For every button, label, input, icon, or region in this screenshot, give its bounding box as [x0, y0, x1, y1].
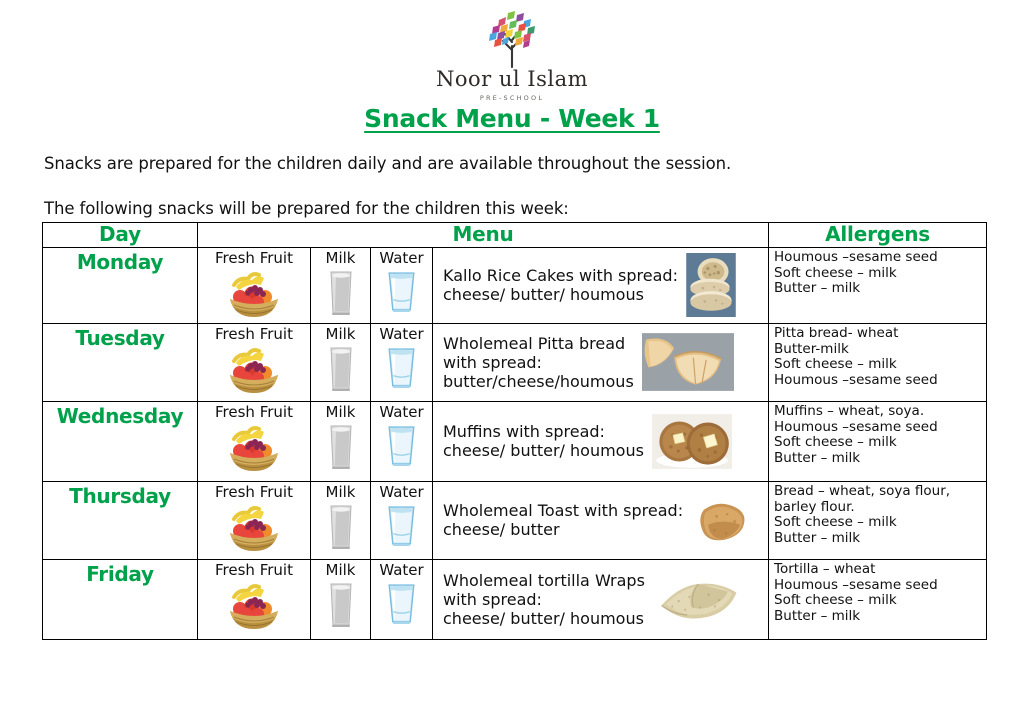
milk-glass-icon — [311, 269, 370, 317]
fruit-basket-icon — [198, 345, 310, 395]
header-menu: Menu — [198, 223, 769, 248]
water-cell: Water — [371, 560, 433, 640]
day-cell-monday: Monday — [43, 248, 198, 324]
milk-glass-icon — [311, 345, 370, 393]
fruit-basket-icon — [198, 503, 310, 553]
menu-cell: Kallo Rice Cakes with spread: cheese/ bu… — [433, 248, 769, 324]
water-label: Water — [371, 562, 432, 579]
menu-cell: Wholemeal tortilla Wraps with spread: ch… — [433, 560, 769, 640]
milk-cell: Milk — [311, 402, 371, 482]
menu-cell: Wholemeal Toast with spread: cheese/ but… — [433, 482, 769, 560]
menu-cell: Muffins with spread: cheese/ butter/ hou… — [433, 402, 769, 482]
fruit-label: Fresh Fruit — [198, 404, 310, 421]
table-row: ThursdayFresh FruitMilkWaterWholemeal To… — [43, 482, 987, 560]
water-label: Water — [371, 326, 432, 343]
table-header-row: Day Menu Allergens — [43, 223, 987, 248]
menu-description: Muffins with spread: cheese/ butter/ hou… — [443, 422, 644, 460]
day-cell-tuesday: Tuesday — [43, 324, 198, 402]
menu-description: Wholemeal tortilla Wraps with spread: ch… — [443, 571, 645, 628]
intro-line-1: Snacks are prepared for the children dai… — [44, 154, 731, 173]
menu-description: Wholemeal Pitta bread with spread: butte… — [443, 334, 634, 391]
fruit-label: Fresh Fruit — [198, 250, 310, 267]
milk-label: Milk — [311, 326, 370, 343]
table-row: FridayFresh FruitMilkWaterWholemeal tort… — [43, 560, 987, 640]
snack-menu-table: Day Menu Allergens MondayFresh FruitMilk… — [42, 222, 987, 640]
fruit-cell: Fresh Fruit — [198, 402, 311, 482]
page-title: Snack Menu - Week 1 — [0, 104, 1024, 133]
fruit-cell: Fresh Fruit — [198, 482, 311, 560]
milk-cell: Milk — [311, 560, 371, 640]
water-glass-icon — [371, 345, 432, 390]
pitta-bread-photo — [642, 333, 734, 391]
allergens-cell: Tortilla – wheat Houmous –sesame seed So… — [769, 560, 987, 640]
milk-glass-icon — [311, 581, 370, 629]
header-allergens: Allergens — [769, 223, 987, 248]
menu-cell: Wholemeal Pitta bread with spread: butte… — [433, 324, 769, 402]
fruit-label: Fresh Fruit — [198, 484, 310, 501]
water-label: Water — [371, 250, 432, 267]
day-cell-wednesday: Wednesday — [43, 402, 198, 482]
water-glass-icon — [371, 269, 432, 314]
milk-glass-icon — [311, 423, 370, 471]
fruit-cell: Fresh Fruit — [198, 324, 311, 402]
water-label: Water — [371, 404, 432, 421]
milk-label: Milk — [311, 250, 370, 267]
water-label: Water — [371, 484, 432, 501]
water-glass-icon — [371, 423, 432, 468]
logo-subtitle: PRE-SCHOOL — [480, 94, 544, 102]
table-row: WednesdayFresh FruitMilkWaterMuffins wit… — [43, 402, 987, 482]
fruit-basket-icon — [198, 581, 310, 631]
water-glass-icon — [371, 503, 432, 548]
table-row: MondayFresh FruitMilkWaterKallo Rice Cak… — [43, 248, 987, 324]
fruit-cell: Fresh Fruit — [198, 248, 311, 324]
milk-label: Milk — [311, 562, 370, 579]
school-logo: Noor ul Islam PRE-SCHOOL — [0, 6, 1024, 102]
water-glass-icon — [371, 581, 432, 626]
fruit-label: Fresh Fruit — [198, 326, 310, 343]
muffins-photo — [652, 414, 732, 469]
milk-label: Milk — [311, 484, 370, 501]
fruit-basket-icon — [198, 423, 310, 473]
allergens-cell: Pitta bread- wheat Butter-milk Soft chee… — [769, 324, 987, 402]
rice-cakes-photo — [686, 253, 736, 317]
menu-description: Kallo Rice Cakes with spread: cheese/ bu… — [443, 266, 678, 304]
intro-line-2: The following snacks will be prepared fo… — [44, 199, 569, 218]
milk-cell: Milk — [311, 248, 371, 324]
fruit-label: Fresh Fruit — [198, 562, 310, 579]
allergens-cell: Bread – wheat, soya flour, barley flour.… — [769, 482, 987, 560]
allergens-cell: Houmous –sesame seed Soft cheese – milk … — [769, 248, 987, 324]
colorful-tree-icon — [469, 6, 555, 68]
water-cell: Water — [371, 324, 433, 402]
milk-label: Milk — [311, 404, 370, 421]
day-cell-friday: Friday — [43, 560, 198, 640]
fruit-basket-icon — [198, 269, 310, 319]
water-cell: Water — [371, 482, 433, 560]
table-row: TuesdayFresh FruitMilkWaterWholemeal Pit… — [43, 324, 987, 402]
water-cell: Water — [371, 248, 433, 324]
water-cell: Water — [371, 402, 433, 482]
fruit-cell: Fresh Fruit — [198, 560, 311, 640]
logo-wordmark: Noor ul Islam — [436, 69, 588, 90]
day-cell-thursday: Thursday — [43, 482, 198, 560]
menu-description: Wholemeal Toast with spread: cheese/ but… — [443, 501, 683, 539]
allergens-cell: Muffins – wheat, soya. Houmous –sesame s… — [769, 402, 987, 482]
milk-cell: Milk — [311, 324, 371, 402]
milk-cell: Milk — [311, 482, 371, 560]
header-day: Day — [43, 223, 198, 248]
toast-photo — [691, 495, 757, 546]
milk-glass-icon — [311, 503, 370, 551]
tortilla-wraps-photo — [653, 571, 745, 627]
table-body: MondayFresh FruitMilkWaterKallo Rice Cak… — [43, 248, 987, 640]
